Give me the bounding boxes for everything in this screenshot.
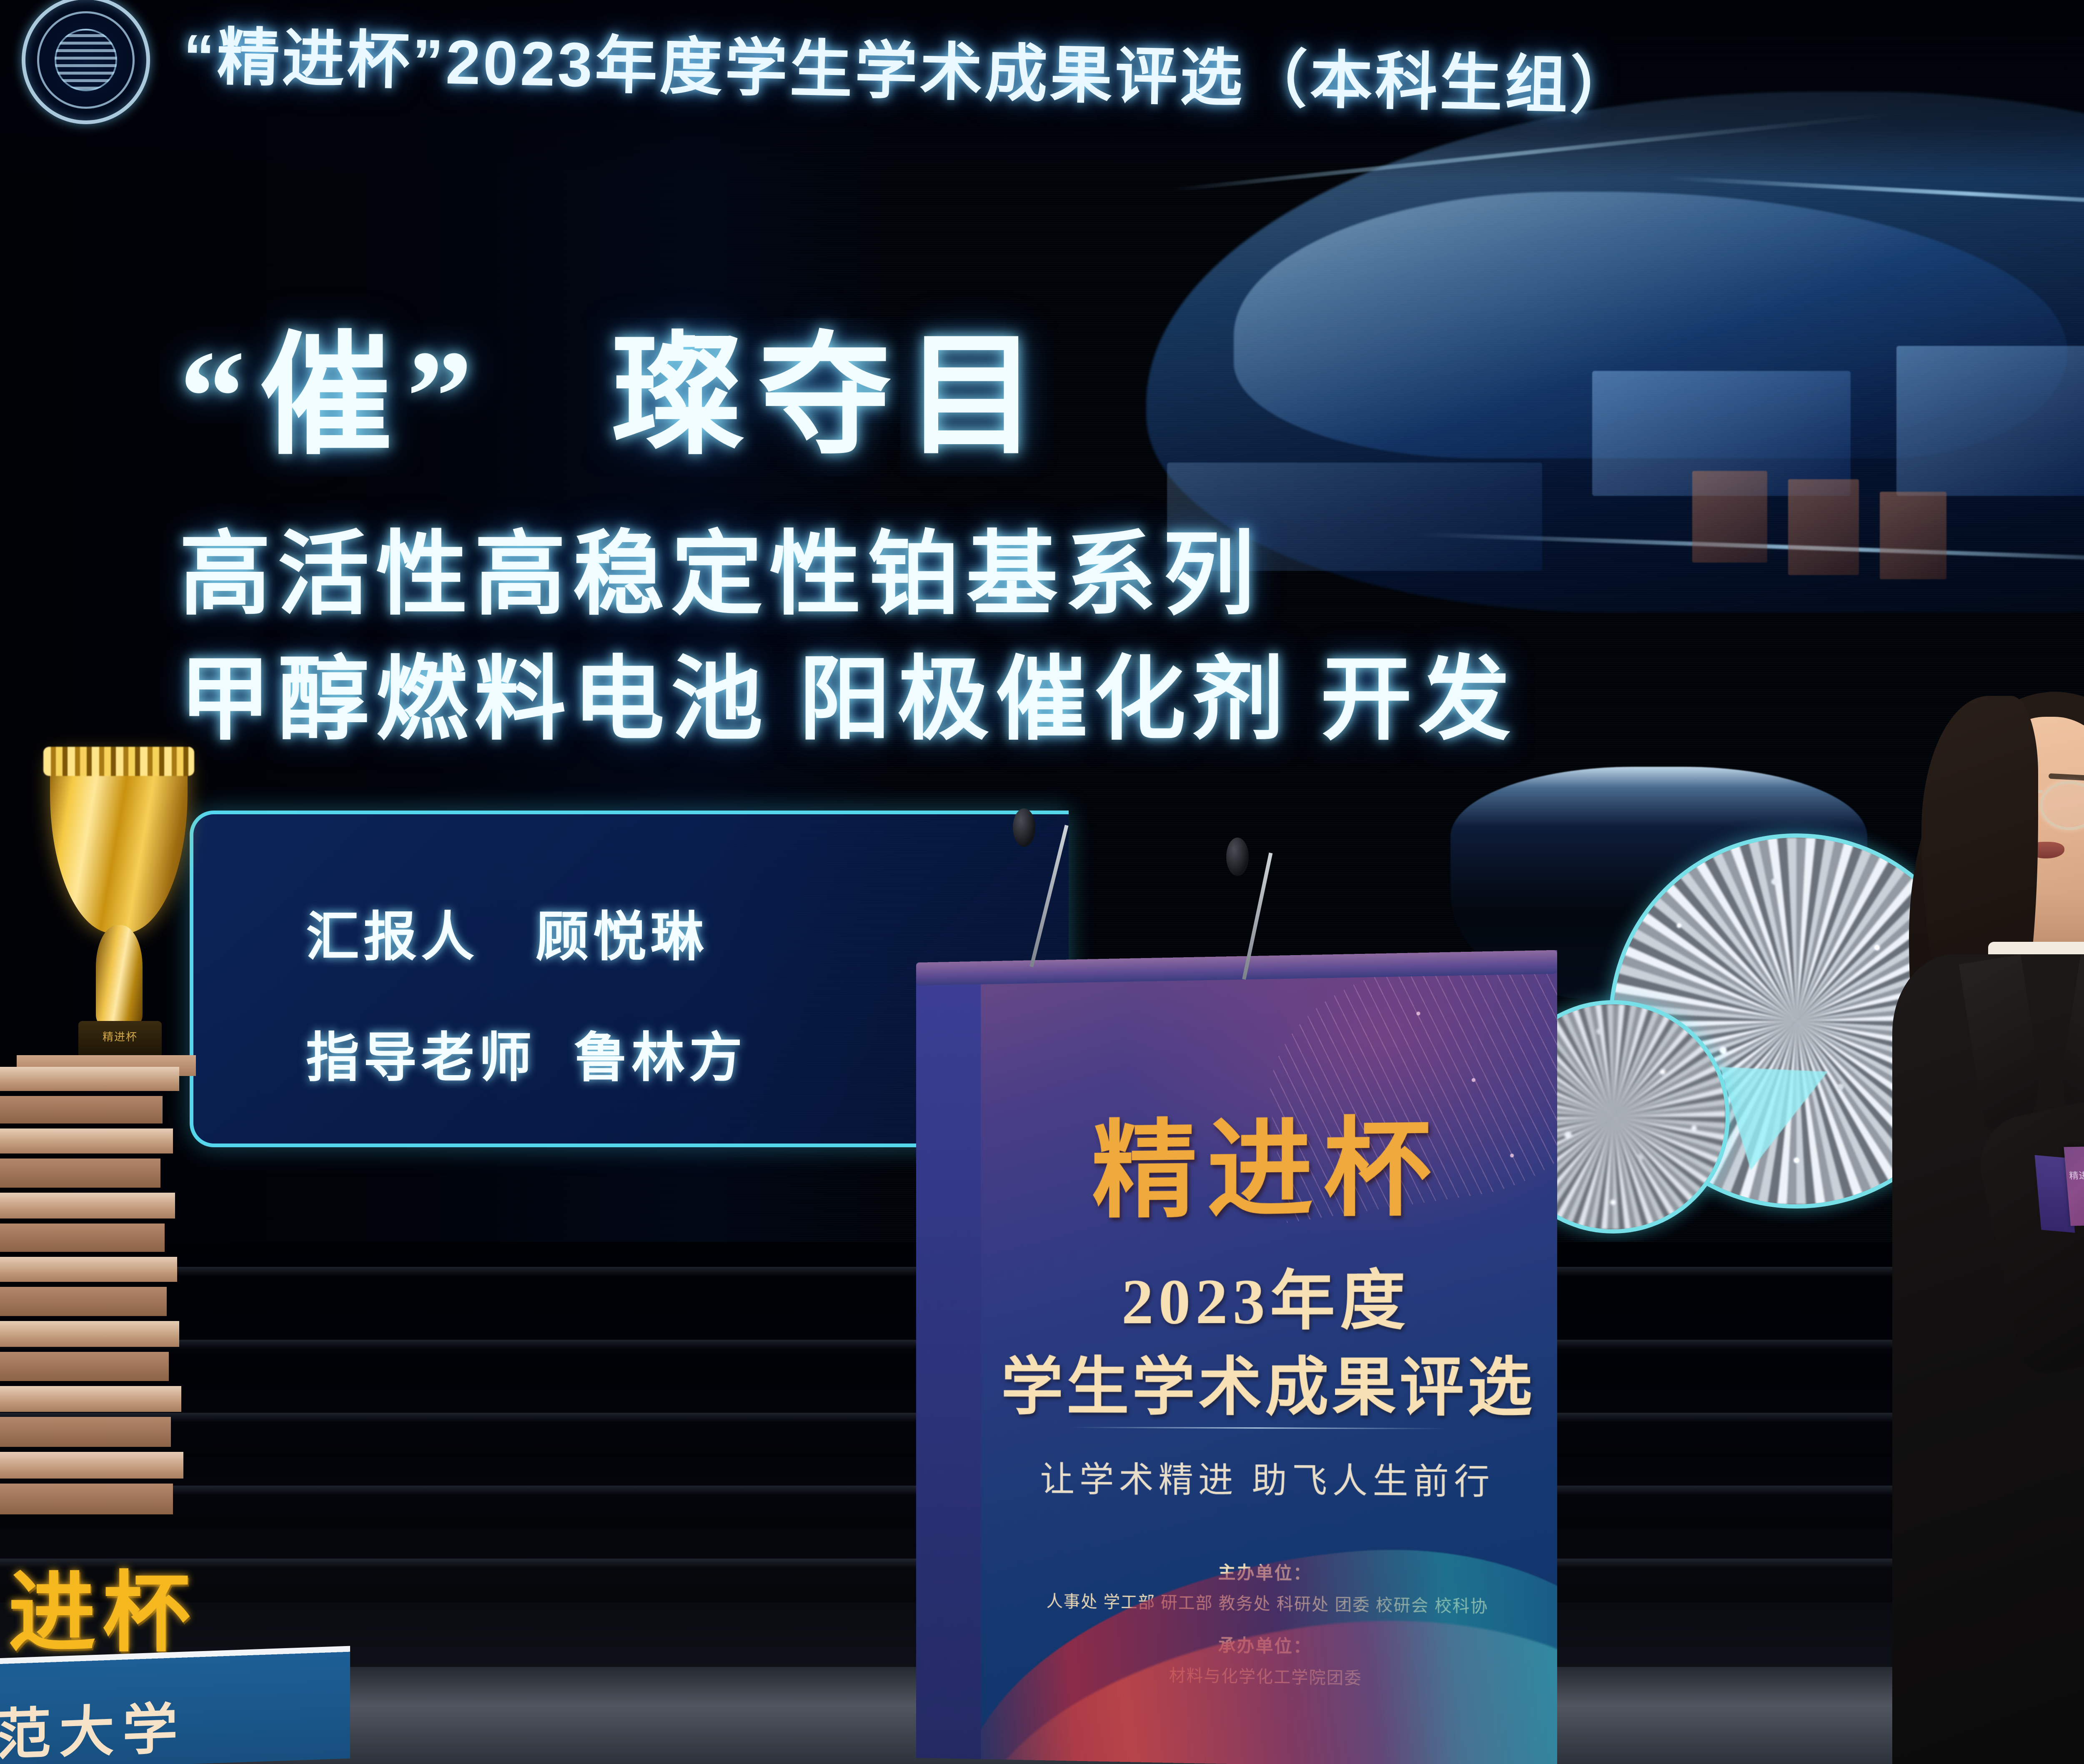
podium-front-panel: 精进杯 2023年度 学生学术成果评选 让学术精进 助飞人生前行 主办单位： 人… — [981, 950, 1557, 1764]
trophy-base-text: 精进杯 — [78, 1028, 162, 1044]
gold-trophy: 精进杯 — [17, 746, 233, 1121]
mic-flag-text: 精进杯 2023年度学生学术成果评选 — [2066, 1167, 2084, 1195]
display-block — [0, 1193, 175, 1219]
university-name-sign: 范大学 — [0, 1646, 350, 1764]
advisor-label: 指导老师 — [306, 1028, 536, 1088]
podium: 精进杯 2023年度 学生学术成果评选 让学术精进 助飞人生前行 主办单位： 人… — [916, 950, 1557, 1764]
podium-slogan-text: 让学术精进 助飞人生前行 — [981, 1451, 1557, 1505]
podium-logo-text: 精进杯 — [981, 1079, 1557, 1239]
presenter-label: 汇报人 — [306, 907, 478, 967]
trophy-stem — [96, 925, 143, 1029]
display-block — [0, 1067, 179, 1091]
advisor-name: 鲁林方 — [574, 1028, 746, 1088]
engine-warm-part — [1880, 492, 1946, 579]
display-block — [0, 1158, 160, 1188]
podium-subtitle-text: 学生学术成果评选 — [981, 1335, 1557, 1428]
university-emblem-icon — [22, 0, 150, 124]
trophy-crown — [43, 747, 194, 776]
display-block — [0, 1484, 173, 1514]
engine-warm-part — [1692, 471, 1767, 563]
podium-side-panel — [916, 974, 983, 1759]
headline-subline-2: 甲醇燃料电池 阳极催化剂 开发 — [179, 625, 1517, 758]
engine-block — [1896, 346, 2084, 496]
stage-photo: “精进杯”2023年度学生学术成果评选（本科生组） “催”璨夺目 高活性高稳定性… — [0, 0, 2084, 1764]
display-block — [0, 1321, 179, 1347]
display-block — [0, 1128, 173, 1153]
display-block — [0, 1386, 181, 1412]
podium-year-text: 2023年度 — [981, 1246, 1557, 1342]
advisor-row: 指导老师 鲁林方 — [306, 1014, 746, 1091]
university-name-text: 范大学 — [0, 1684, 186, 1764]
display-block — [0, 1096, 163, 1123]
trophy-base: 精进杯 — [78, 1021, 162, 1058]
quote-close: ” — [406, 323, 487, 470]
display-block — [0, 1417, 171, 1447]
presenter-name: 顾悦琳 — [536, 907, 708, 967]
display-block — [0, 1287, 167, 1316]
presenter-row: 汇报人 顾悦琳 — [306, 893, 708, 971]
display-block — [0, 1452, 183, 1479]
engine-warm-part — [1788, 479, 1859, 575]
presenter: 13 精进杯 2023年度学生学术成果评选 — [1859, 667, 2084, 1764]
display-block — [0, 1352, 169, 1381]
display-block — [0, 1224, 165, 1252]
headline-main: “催”璨夺目 — [179, 288, 1052, 480]
quote-open: “ — [179, 323, 260, 470]
headline-subline-1: 高活性高稳定性铂基系列 — [179, 500, 1261, 633]
trophy-cup — [50, 754, 188, 933]
headline-tail: 璨夺目 — [612, 323, 1052, 470]
headline-keyword: 催 — [260, 323, 406, 470]
mic-head-icon — [1013, 808, 1035, 847]
gold-cup-characters: 进杯 — [8, 1542, 197, 1669]
mic-head-icon — [1226, 838, 1249, 876]
display-block — [0, 1257, 177, 1282]
